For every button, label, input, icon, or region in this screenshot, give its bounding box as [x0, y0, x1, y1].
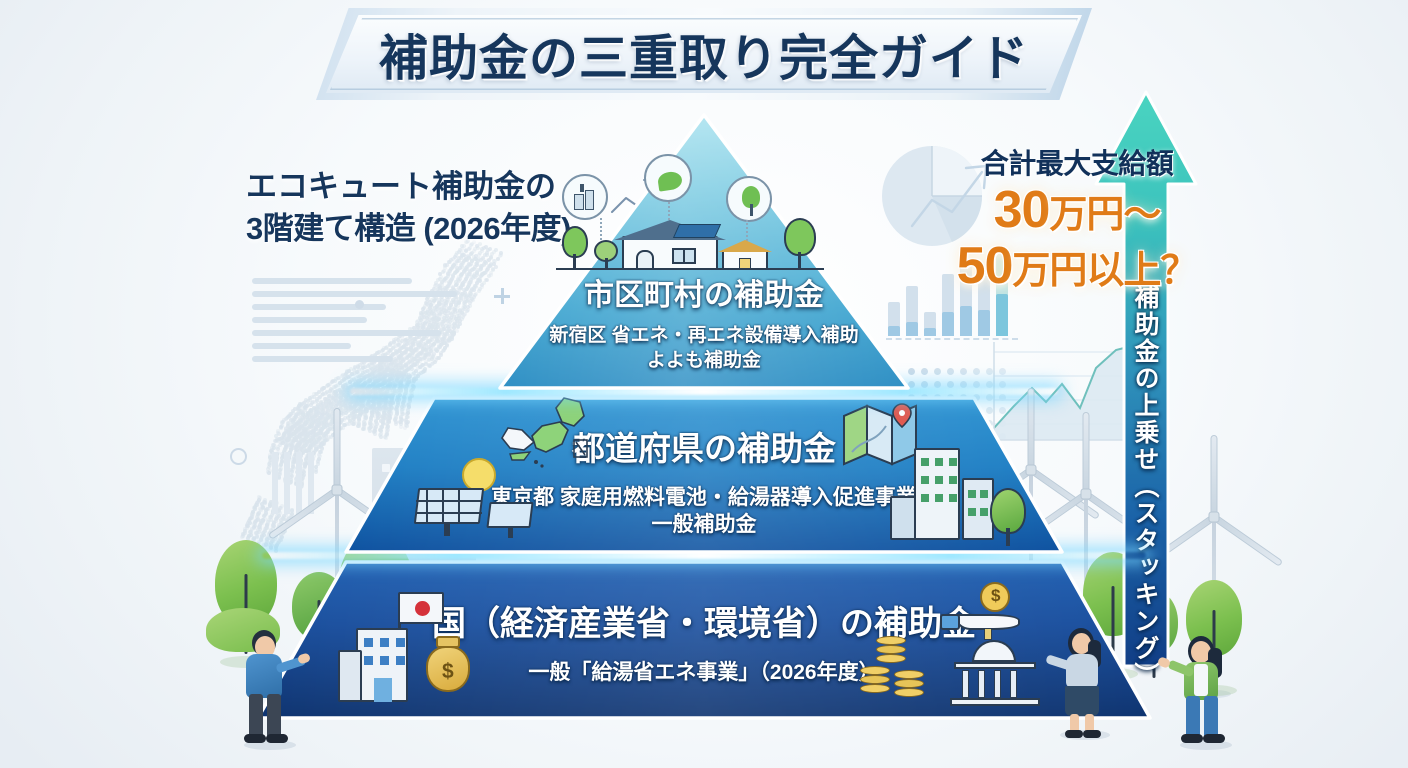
infographic-canvas: 補助金の三重取り完全ガイド エコキュート補助金の 3階建て構造 (2026年度): [0, 0, 1408, 768]
tier-municipal-title: 市区町村の補助金: [494, 270, 914, 314]
solar-panel-icon: [412, 458, 540, 538]
tier-municipal-text: 市区町村の補助金 新宿区 省エネ・再エネ設備導入補助 よよも補助金: [494, 270, 914, 373]
government-building-icon: [950, 628, 1046, 706]
pyramid-tier-national[interactable]: 国（経済産業省・環境省）の補助金 一般「給湯省エネ事業」（2026年度） $: [250, 556, 1158, 724]
tier-municipal-subtitle-2: よよも補助金: [494, 349, 914, 374]
person-pointing-right: [1172, 636, 1244, 748]
tree-bubble-icon: [726, 176, 772, 222]
money-bag-icon: $: [420, 632, 476, 694]
pyramid-tier-prefectural[interactable]: 都道府県の補助金 東京都 家庭用燃料電池・給湯器導入促進事業 一般補助金: [338, 392, 1070, 558]
eco-house-icon: [540, 154, 870, 270]
sun-icon: [462, 458, 496, 492]
eco-heart-bubble-icon: [644, 154, 692, 202]
factory-bubble-icon: [562, 174, 608, 220]
person-at-government-building: [1052, 628, 1122, 738]
city-buildings-icon: [890, 448, 1000, 544]
tree-icon-tier2: [986, 488, 1030, 546]
coin-stack-icon: [860, 636, 938, 700]
pyramid-tier-municipal[interactable]: 市区町村の補助金 新宿区 省エネ・再エネ設備導入補助 よよも補助金: [494, 110, 914, 394]
tier-municipal-subtitle-1: 新宿区 省エネ・再エネ設備導入補助: [494, 324, 914, 349]
person-pointing-left: [236, 630, 308, 748]
office-building-blue-icon: [338, 628, 422, 702]
